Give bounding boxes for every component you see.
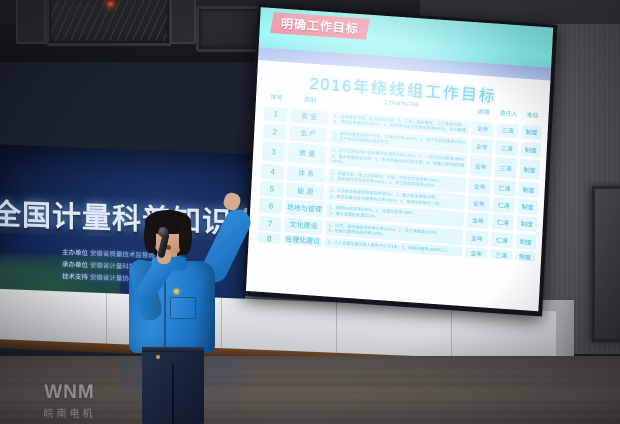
cell-no: 3 bbox=[262, 141, 286, 163]
ceiling-indicator-light bbox=[108, 2, 113, 6]
cell-period: 全年 bbox=[467, 213, 490, 229]
cell-owner: 仁涛 bbox=[493, 180, 516, 196]
cell-category: 质 量 bbox=[288, 143, 327, 166]
goals-table: 序号 类别 工作目标内容 周期 责任人 考核 1安 全1、安全事故为零，轻伤事故… bbox=[257, 92, 542, 265]
presenter-chest-pocket bbox=[170, 297, 196, 319]
cell-period: 全年 bbox=[466, 230, 489, 246]
cell-no: 4 bbox=[261, 163, 285, 179]
cell-assessment: 制度 bbox=[519, 159, 540, 181]
slide-section-tag-label: 明确工作目标 bbox=[281, 15, 360, 37]
cell-no: 7 bbox=[258, 215, 282, 231]
presenter bbox=[112, 205, 242, 424]
cell-owner: 仁涛 bbox=[492, 197, 515, 213]
cell-no: 1 bbox=[264, 106, 288, 122]
cell-owner: 三涛 bbox=[490, 249, 512, 261]
projection-screen: 明确工作目标 2016年绕线组工作目标 序号 类别 工作目标内容 周期 责任人 … bbox=[243, 4, 558, 317]
microphone-head bbox=[158, 227, 168, 237]
cell-assessment: 制度 bbox=[515, 251, 535, 262]
ceiling-duct-right bbox=[170, 0, 196, 44]
header-when: 周期 bbox=[472, 106, 494, 117]
presenter-jeans-button bbox=[156, 355, 160, 359]
cell-category: 场地与管理 bbox=[285, 200, 324, 217]
ceiling-duct-left bbox=[16, 0, 46, 44]
cell-assessment: 制度 bbox=[516, 216, 537, 232]
header-cat: 类别 bbox=[291, 94, 329, 106]
cell-no: 8 bbox=[258, 233, 281, 245]
header-no: 序号 bbox=[265, 92, 288, 103]
header-check: 考核 bbox=[522, 110, 542, 120]
cell-period: 全年 bbox=[465, 247, 487, 259]
watermark-subtitle: 皖南电机 bbox=[22, 405, 117, 420]
slide-surface: 明确工作目标 2016年绕线组工作目标 序号 类别 工作目标内容 周期 责任人 … bbox=[246, 7, 553, 311]
cell-period: 全年 bbox=[468, 178, 491, 194]
cell-category: 安 全 bbox=[290, 108, 329, 125]
photo-scene: 全国计量科普知识竞答 主办单位 安徽省质量技术监督局、安徽省… 承办单位 安徽省… bbox=[0, 0, 620, 424]
header-who: 责任人 bbox=[497, 108, 519, 119]
presenter-badge bbox=[174, 289, 179, 294]
cell-period: 全年 bbox=[469, 155, 492, 177]
cell-assessment: 制度 bbox=[520, 141, 541, 157]
cell-no: 6 bbox=[259, 198, 283, 214]
ceiling-grille bbox=[51, 0, 167, 41]
slide-body: 2016年绕线组工作目标 序号 类别 工作目标内容 周期 责任人 考核 1安 全… bbox=[246, 60, 550, 311]
ceiling-vent-panel bbox=[46, 0, 172, 46]
cell-period: 全年 bbox=[471, 121, 494, 137]
cell-owner: 三涛 bbox=[495, 140, 518, 156]
cell-category: 合理化建议 bbox=[283, 234, 321, 247]
presenter-waistband bbox=[142, 347, 204, 352]
presenter-hair-right bbox=[179, 219, 192, 255]
cell-assessment: 制度 bbox=[517, 199, 538, 215]
presenter-hair-left bbox=[144, 219, 156, 253]
cell-owner: 三涛 bbox=[496, 122, 519, 138]
cell-category: 体 系 bbox=[287, 165, 326, 182]
cell-assessment: 制度 bbox=[518, 181, 539, 197]
watermark-logo-text: WNM bbox=[22, 382, 117, 404]
cell-no: 2 bbox=[263, 123, 287, 139]
cell-assessment: 制度 bbox=[516, 233, 537, 249]
cell-category: 文化建设 bbox=[284, 217, 323, 234]
cell-owner: 三涛 bbox=[494, 157, 517, 179]
cell-period: 全年 bbox=[471, 138, 494, 154]
cell-owner: 仁涛 bbox=[492, 214, 515, 230]
cell-owner: 仁涛 bbox=[491, 232, 514, 248]
cell-period: 全年 bbox=[468, 195, 491, 211]
cell-category: 能 源 bbox=[286, 183, 325, 200]
watermark: WNM 皖南电机 bbox=[22, 382, 117, 420]
cell-no: 5 bbox=[260, 181, 284, 197]
cell-category: 生 产 bbox=[289, 125, 328, 142]
presenter-jeans bbox=[142, 347, 204, 424]
wall-picture-frame bbox=[592, 186, 620, 342]
cell-assessment: 制度 bbox=[521, 124, 542, 140]
table-rows: 1安 全1、安全事故为零，轻伤事故为零；2、工伤、重伤事故、工亡事故为零；3、消… bbox=[258, 106, 543, 262]
